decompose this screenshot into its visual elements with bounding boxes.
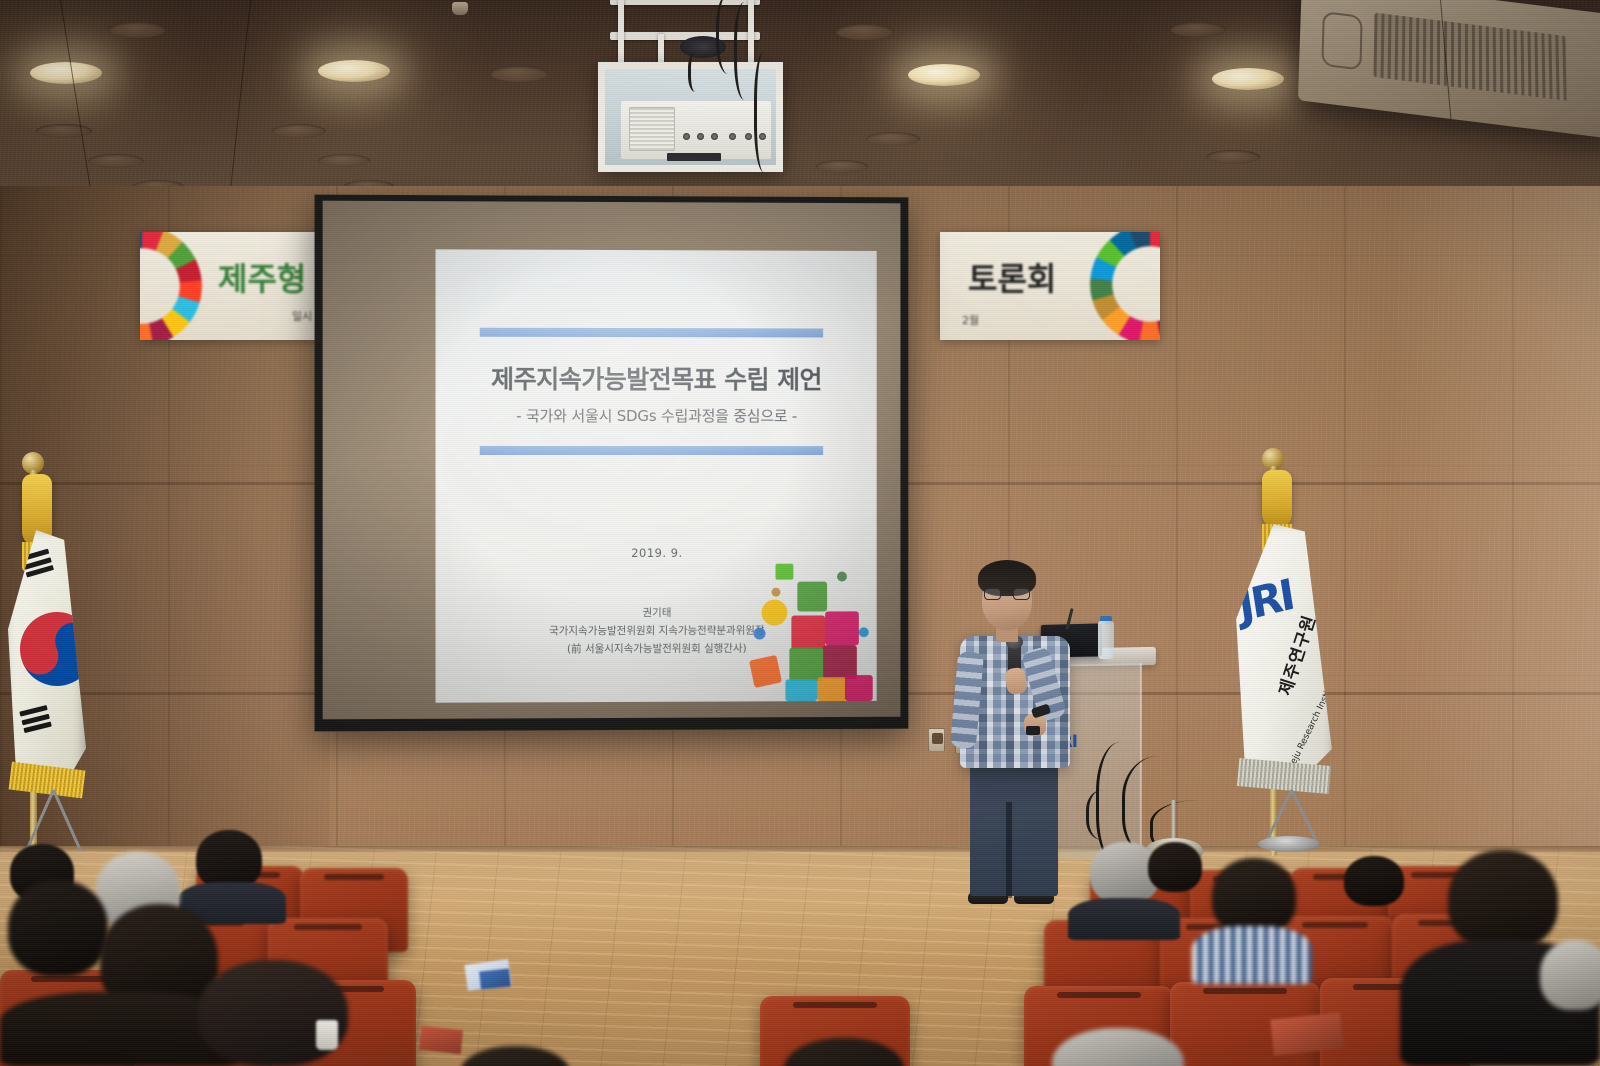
handout-papers bbox=[1270, 1012, 1343, 1055]
ceiling-light-off bbox=[36, 124, 92, 138]
projector-body bbox=[621, 101, 771, 159]
slide-title: 제주지속가능발전목표 수립 제언 bbox=[436, 360, 877, 397]
sdg-block bbox=[791, 615, 825, 649]
projector-label-strip bbox=[667, 153, 721, 161]
wall-highlight-right bbox=[1390, 186, 1600, 886]
ceiling bbox=[0, 0, 1600, 205]
sdg-figure bbox=[771, 588, 780, 597]
auditorium-scene: 제주형 지 일시 토론회 2월 제주지속가능발전목표 수립 제언 - 국가와 서… bbox=[0, 0, 1600, 1066]
ceiling-light-on bbox=[30, 62, 102, 84]
ceiling-light-on bbox=[1212, 68, 1284, 90]
screen-surface: 제주지속가능발전목표 수립 제언 - 국가와 서울시 SDGs 수립과정을 중심… bbox=[323, 201, 901, 720]
ceiling-light-off bbox=[272, 124, 326, 138]
ceiling-light-on bbox=[318, 60, 390, 82]
speaker-mic-hand bbox=[1004, 667, 1027, 696]
sdg-block bbox=[817, 677, 847, 701]
projector-fan-grille bbox=[629, 107, 675, 151]
sdg-block bbox=[797, 582, 827, 612]
sdg-figure bbox=[754, 628, 766, 640]
ceiling-light-off bbox=[1170, 22, 1226, 37]
trigram-gon bbox=[19, 705, 52, 737]
ceiling-light-off bbox=[490, 66, 548, 82]
paper-cup bbox=[316, 1020, 338, 1050]
sdg-block bbox=[749, 655, 782, 688]
audience-member-shoulders bbox=[1192, 926, 1312, 984]
event-banner-right: 토론회 2월 bbox=[940, 232, 1160, 340]
audience-member-shoulders bbox=[1068, 898, 1180, 940]
ceiling-mounted-projector bbox=[588, 0, 788, 191]
sdg-block bbox=[789, 647, 823, 681]
ceiling-light-off bbox=[836, 24, 894, 40]
handout-papers bbox=[479, 968, 511, 989]
audience-member-head bbox=[198, 960, 348, 1066]
projector-cable bbox=[688, 52, 706, 92]
flag-tassel bbox=[1262, 470, 1292, 528]
wall-power-outlet bbox=[928, 728, 945, 752]
audience-member-head bbox=[1448, 850, 1558, 950]
projector-mount-post bbox=[658, 34, 664, 64]
presentation-slide: 제주지속가능발전목표 수립 제언 - 국가와 서울시 SDGs 수립과정을 중심… bbox=[436, 249, 877, 702]
sdg-blocks-illustration bbox=[746, 554, 873, 700]
audience-member-head bbox=[1212, 858, 1296, 936]
sdg-block bbox=[762, 600, 788, 626]
handout-papers bbox=[419, 1026, 463, 1054]
ac-vent bbox=[1321, 11, 1363, 70]
audience-member-head bbox=[1148, 842, 1202, 892]
ceiling-light-on bbox=[908, 64, 980, 86]
ceiling-light-off bbox=[866, 132, 920, 146]
projector-cable bbox=[754, 52, 778, 172]
projector-mount-post bbox=[618, 0, 624, 66]
sdg-block bbox=[825, 611, 859, 645]
sdg-block bbox=[785, 679, 817, 701]
ac-grille bbox=[1374, 12, 1567, 100]
presentation-clicker bbox=[1026, 726, 1040, 735]
ceiling-light-off bbox=[318, 154, 370, 167]
slide-accent-bar-bottom bbox=[480, 446, 823, 455]
water-bottle bbox=[1098, 621, 1114, 659]
audience-member-head bbox=[1344, 856, 1404, 906]
sdg-block bbox=[823, 645, 857, 679]
audience-member-head bbox=[196, 830, 262, 890]
slide-subtitle: - 국가와 서울시 SDGs 수립과정을 중심으로 - bbox=[436, 405, 877, 426]
ceiling-light-off bbox=[816, 160, 868, 173]
speaker-glasses bbox=[984, 588, 1030, 600]
sdg-figure bbox=[837, 572, 847, 582]
ceiling-light-off bbox=[108, 22, 166, 38]
sdg-block bbox=[775, 564, 793, 580]
slide-accent-bar-top bbox=[480, 328, 823, 338]
jri-korean-name: 제주연구원 bbox=[1271, 611, 1320, 698]
sdg-figure bbox=[859, 627, 869, 637]
audience-seating bbox=[0, 820, 1600, 1066]
ceiling-light-off bbox=[1206, 150, 1260, 164]
fire-sprinkler-head bbox=[452, 2, 468, 15]
audience-member-head bbox=[460, 1046, 570, 1066]
sdg-block bbox=[845, 675, 873, 701]
ceiling-light-off bbox=[88, 154, 144, 168]
banner-blur-overlay bbox=[940, 232, 1160, 340]
projection-screen: 제주지속가능발전목표 수립 제언 - 국가와 서울시 SDGs 수립과정을 중심… bbox=[315, 195, 909, 732]
audience-member-head bbox=[1540, 940, 1600, 1010]
audience-member-head bbox=[8, 880, 108, 976]
